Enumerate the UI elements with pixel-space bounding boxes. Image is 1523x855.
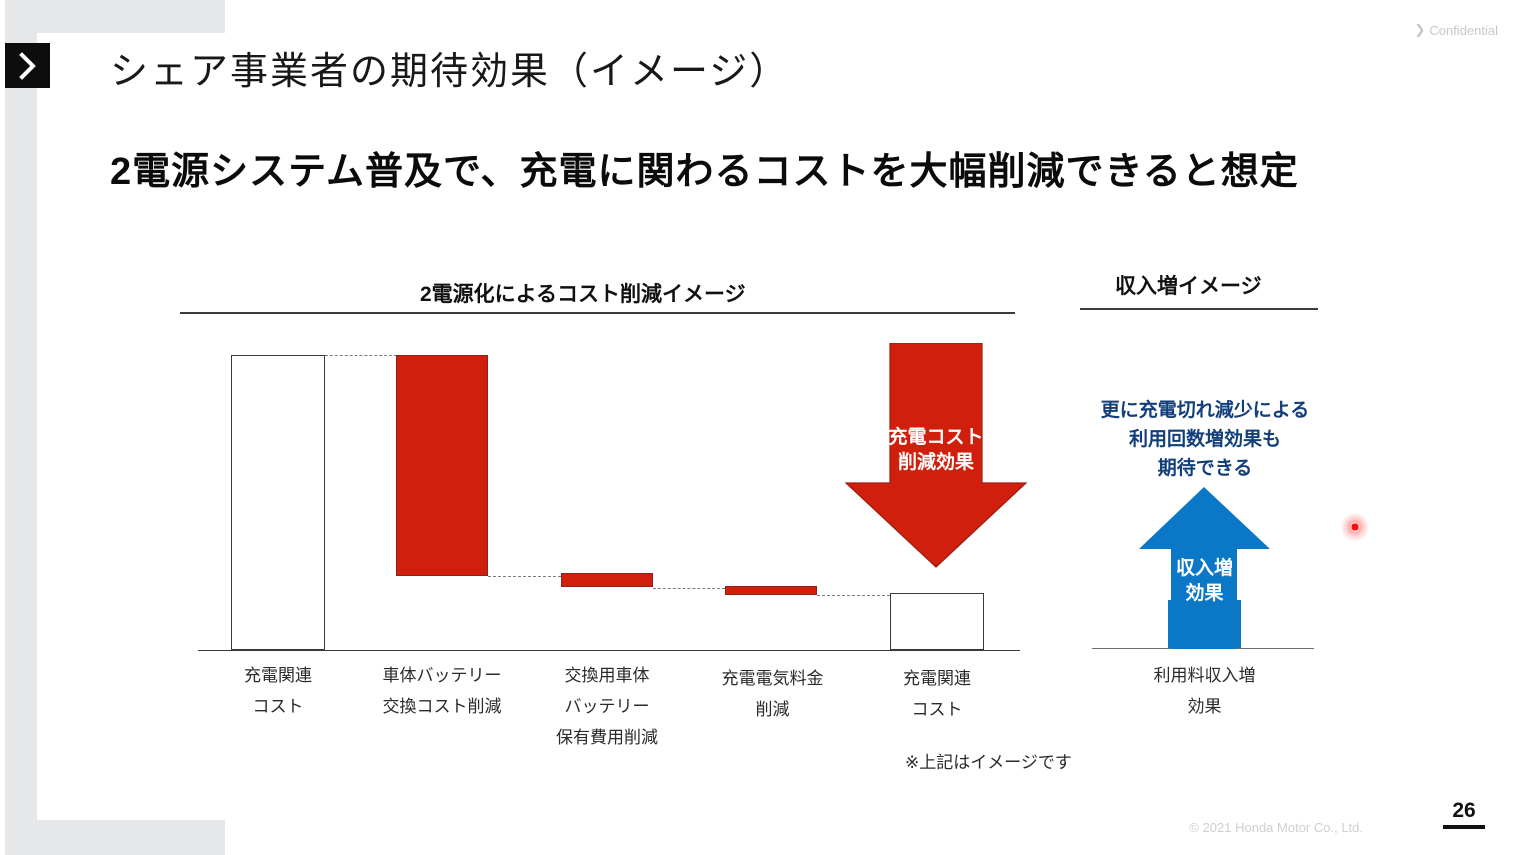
revenue-increase-arrow-label: 収入増 効果 <box>1138 556 1271 606</box>
click-indicator-dot <box>1341 513 1369 541</box>
page-number: 26 <box>1443 799 1485 829</box>
blue-arrow-label-line-2: 効果 <box>1138 581 1271 606</box>
left-section-title: 2電源化によるコスト削減イメージ <box>420 278 746 308</box>
cost-reduction-arrow-label: 充電コスト 削減効果 <box>845 425 1027 475</box>
copyright-text: © 2021 Honda Motor Co., Ltd. <box>1189 820 1363 835</box>
slide-frame-top-band <box>5 0 225 33</box>
blue-note-line-1: 更に充電切れ減少による <box>1065 396 1345 425</box>
blue-note-line-2: 利用回数増効果も <box>1065 425 1345 454</box>
chevron-right-icon[interactable] <box>5 43 50 88</box>
chevron-right-small-icon: ❯ <box>1414 22 1425 38</box>
page-title: シェア事業者の期待効果（イメージ） <box>110 40 789 95</box>
confidential-label: Confidential <box>1429 23 1498 38</box>
revenue-increase-note: 更に充電切れ減少による 利用回数増効果も 期待できる <box>1065 396 1345 483</box>
red-arrow-label-line-1: 充電コスト <box>845 425 1027 450</box>
left-section-rule <box>180 312 1015 314</box>
confidential-marker: ❯ Confidential <box>1414 22 1498 38</box>
slide-frame-left-band <box>5 0 37 855</box>
slide-frame-bottom-band <box>5 820 225 855</box>
red-arrow-label-line-2: 削減効果 <box>845 450 1027 475</box>
image-disclaimer-note: ※上記はイメージです <box>905 748 1072 773</box>
right-section-rule <box>1080 308 1318 310</box>
blue-arrow-label-line-1: 収入増 <box>1138 556 1271 581</box>
blue-note-line-3: 期待できる <box>1065 454 1345 483</box>
page-subtitle: 2電源システム普及で、充電に関わるコストを大幅削減できると想定 <box>110 140 1299 195</box>
right-section-title: 収入増イメージ <box>1115 270 1262 300</box>
